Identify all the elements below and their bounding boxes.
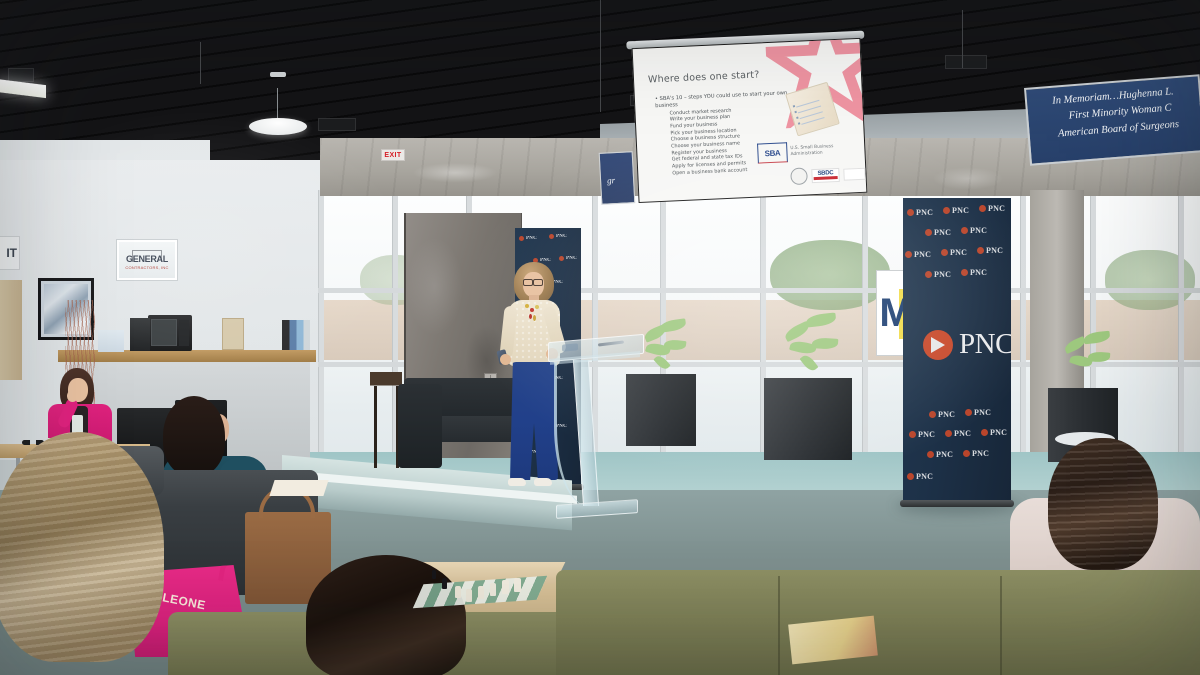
government-seal-icon (790, 167, 808, 185)
partner-logo-row: SBDC (790, 165, 866, 185)
chess-piece-black[interactable] (442, 578, 447, 589)
chess-piece-white[interactable] (455, 586, 461, 598)
ceiling-vent (945, 55, 987, 69)
contractor-sign-sub: CONTRACTORS, INC (125, 265, 168, 270)
ceiling-cable (600, 0, 601, 112)
sbdc-logo-bar (814, 176, 838, 180)
bottles-group (282, 320, 310, 350)
interior-door[interactable] (0, 280, 22, 380)
attendee-pink-top-right (1010, 438, 1200, 578)
pnc-logo-wordmark: PNC (959, 328, 1011, 361)
pendant-canopy (270, 72, 286, 77)
microwave[interactable] (148, 315, 192, 351)
sba-mark: SBA (757, 142, 788, 163)
pnc-tile-label: PNC (970, 226, 987, 235)
pnc-tile-label: PNC (936, 450, 953, 459)
pnc-tile-label: PNC (914, 250, 931, 259)
attendee-hair (306, 555, 466, 675)
contractor-sign-main: GENERAL (126, 255, 168, 264)
beaded-necklace (524, 302, 542, 322)
attendee-hair (1048, 438, 1158, 570)
pnc-tile-label: PNC (938, 410, 955, 419)
pnc-tile-label: PNC (950, 248, 967, 257)
chess-piece-white[interactable] (466, 589, 472, 602)
sofa-cushion-divider (1000, 576, 1002, 675)
it-sign-label: IT (6, 246, 17, 260)
general-contractors-sign: GENERAL CONTRACTORS, INC (117, 240, 177, 280)
window-mullion (318, 190, 324, 490)
attendee-hand (67, 390, 78, 402)
projector-screen: Where does one start? SBA's 10 – steps Y… (624, 31, 871, 212)
slide-body: SBA's 10 – steps YOU could use to start … (655, 90, 799, 178)
presenter-hand-left (500, 354, 511, 365)
planter-box (764, 378, 852, 460)
partner-logo-extra (843, 167, 866, 180)
it-sign: IT (0, 236, 20, 270)
microwave-panel[interactable] (179, 320, 189, 346)
attendee-hair (163, 396, 225, 476)
window-mullion (862, 190, 868, 490)
ceiling-cable (962, 10, 963, 68)
pendant-light (249, 118, 307, 135)
microwave-door[interactable] (151, 319, 177, 346)
acrylic-lectern (548, 338, 644, 526)
pnc-tile-label: PNC (566, 256, 577, 261)
potted-plant (1062, 332, 1118, 392)
banner-stand-base (900, 500, 1014, 507)
sbdc-logo: SBDC (811, 167, 840, 182)
armchair-back-row (398, 384, 442, 468)
pnc-tile-label: PNC (952, 206, 969, 215)
sba-logo: SBA U.S. Small Business Administration (757, 140, 834, 163)
sba-mark-label: SBA (764, 148, 780, 158)
chess-piece-white[interactable] (478, 586, 484, 599)
contractor-sign-main-text: GENERAL (126, 254, 168, 264)
pendant-rod (277, 88, 278, 122)
notebook-on-table (269, 480, 328, 496)
pnc-tile-label: PNC (916, 208, 933, 217)
sba-logo-line2: Administration (790, 150, 833, 158)
picture-stand (222, 318, 244, 350)
chess-piece-white[interactable] (514, 578, 521, 592)
chess-piece-white[interactable] (502, 580, 509, 594)
snack-box (98, 330, 124, 352)
lectern-base (556, 499, 638, 519)
attendee-blonde-foreground (0, 432, 172, 675)
pnc-tile-label: PNC (526, 236, 537, 241)
pnc-tile-label: PNC (972, 449, 989, 458)
potted-plant (640, 318, 696, 378)
pnc-tile-label: PNC (988, 204, 1005, 213)
pnc-tile-label: PNC (990, 428, 1007, 437)
attendee-hair (0, 432, 164, 662)
pnc-tile-label: PNC (954, 429, 971, 438)
ceiling-cable (200, 42, 201, 84)
kitchen-counter-top (58, 350, 316, 362)
eyeglasses (523, 279, 543, 284)
presenter-shoe (508, 478, 526, 486)
pnc-primary-logo: PNC (923, 328, 1011, 361)
exterior-foliage (770, 240, 890, 310)
exit-sign: EXIT (381, 149, 405, 161)
small-blue-sign-label: gr (607, 175, 616, 185)
coffee-machine-counter[interactable] (130, 318, 150, 351)
pnc-tile-label: PNC (934, 270, 951, 279)
pnc-tile-label: PNC (974, 408, 991, 417)
presentation-slide: Where does one start? SBA's 10 – steps Y… (632, 38, 868, 203)
pnc-tile-label: PNC (556, 234, 567, 239)
pnc-tile-label: PNC (970, 268, 987, 277)
memoriam-banner: In Memoriam…Hughenna L. First Minority W… (1024, 74, 1200, 166)
pnc-tile-label: PNC (918, 430, 935, 439)
attendee-dark-hair-foreground (306, 555, 471, 675)
bar-stool-leg (374, 386, 377, 468)
pnc-tile-label: PNC (986, 246, 1003, 255)
slide-title: Where does one start? (648, 69, 760, 85)
slide-step-list: Conduct market research Write your busin… (655, 105, 798, 178)
pnc-banner-main: PNC PNC PNC PNC PNC PNC PNC PNC PNC PNC … (903, 198, 1011, 503)
ceiling-vent (318, 118, 356, 131)
olive-sofa-right (556, 570, 1200, 675)
chess-piece-white[interactable] (490, 583, 496, 596)
pnc-tile-label: PNC (916, 472, 933, 481)
sofa-cushion-divider (778, 576, 780, 675)
lectern-notes (562, 343, 578, 351)
exit-sign-label: EXIT (384, 152, 401, 159)
potted-plant (782, 314, 846, 380)
pnc-logo-icon (923, 330, 953, 360)
pnc-tile-label: PNC (934, 228, 951, 237)
presentation-room-photo: EXIT Where does one start? SBA's 10 – st… (0, 0, 1200, 675)
sba-logo-text: U.S. Small Business Administration (790, 144, 834, 157)
chess-piece-black[interactable] (432, 570, 436, 579)
